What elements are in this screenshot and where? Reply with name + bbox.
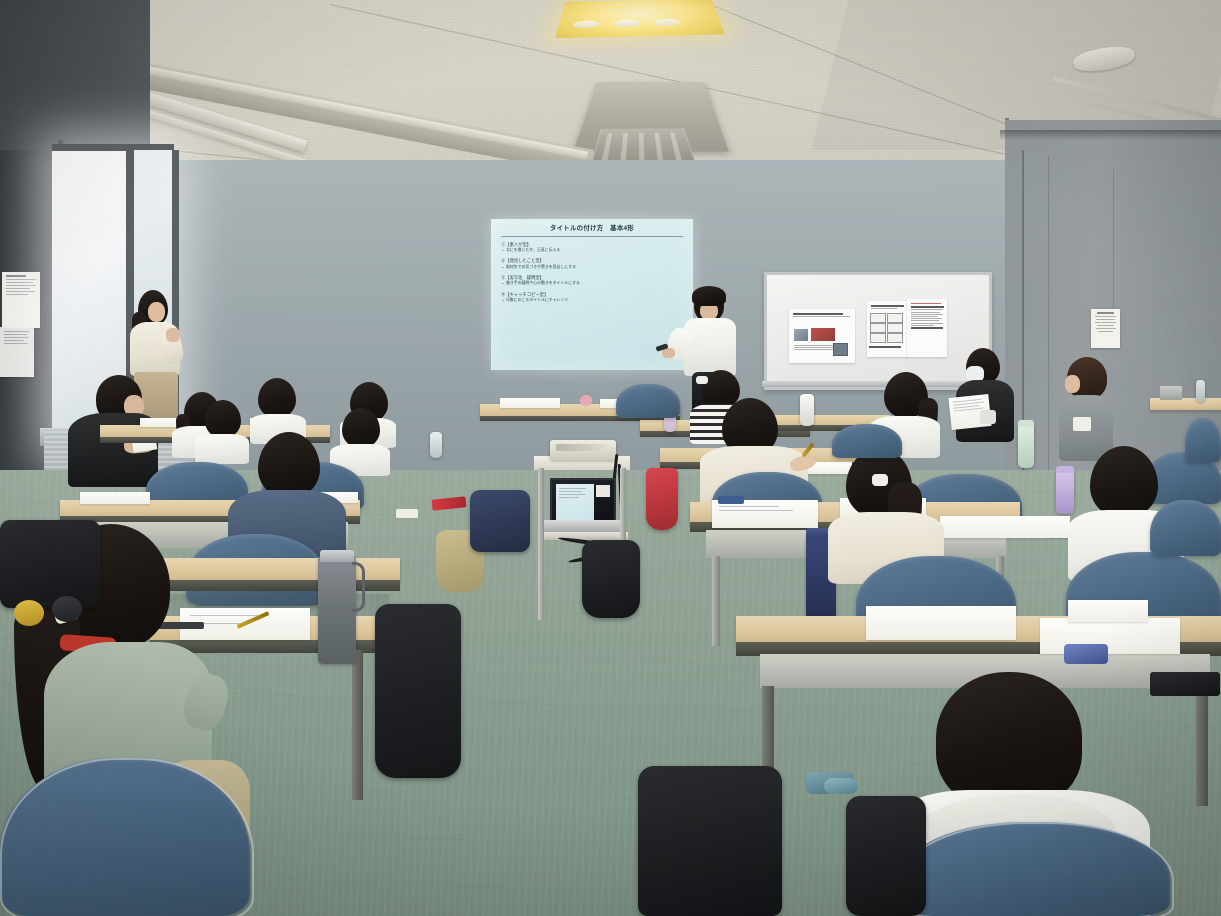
projector-top-panel [556, 444, 606, 451]
student-head [258, 432, 320, 498]
paper-stack [500, 398, 560, 408]
shoe-teal-2 [824, 778, 858, 794]
eraser [396, 509, 418, 518]
pencil-case-blue [718, 496, 744, 504]
thermos-mint [1018, 424, 1034, 468]
backpack-foreground-center [638, 766, 782, 916]
student-head [1090, 446, 1158, 518]
student-head [258, 378, 296, 418]
student-back-left-2 [250, 378, 308, 438]
backpack-center-left [375, 604, 461, 778]
slide-item-detail: → 取材先での気づきや驚きを見出しにする [501, 265, 683, 270]
slide-item-detail: → なにを書いたか、正直に伝える [501, 248, 683, 253]
thermos-handle [352, 562, 365, 612]
laptop-screen [550, 478, 616, 526]
backpack-navy-mid [470, 490, 530, 552]
staff-hands [166, 328, 180, 342]
hair-clip [696, 376, 708, 384]
whiteboard-sheet [789, 309, 855, 363]
fluorescent-troffer-center [552, 0, 729, 49]
red-bag-on-chair [646, 468, 678, 530]
bottle-white-center [800, 394, 814, 426]
bottle-cap [1018, 420, 1034, 427]
partition-seam [1113, 168, 1114, 328]
left-pillar-notice-lower [0, 327, 34, 377]
partition-top-shadow [1000, 130, 1221, 140]
desk-leg [712, 556, 720, 646]
gray-staff-face [1065, 375, 1080, 393]
chair-back-far [832, 424, 902, 458]
presenter-hair [692, 286, 726, 306]
slide-item-heading: ②【発見したこと型】 [501, 258, 683, 263]
backpack-center-aisle [582, 540, 640, 618]
paper-foreground-right [1068, 600, 1148, 622]
laptop-corner-panel [596, 485, 610, 497]
paper-foreground-right [866, 606, 1016, 640]
desk-leg [352, 650, 363, 800]
cart-leg [538, 468, 544, 620]
paper-on-desk [940, 516, 1070, 538]
paper-foreground-right [1040, 618, 1180, 654]
pink-object [580, 395, 592, 406]
hair-tie [872, 474, 888, 486]
paper-on-desk [712, 500, 818, 528]
presenter-hand [662, 348, 675, 358]
slide-item-detail: → 書き手の疑問や心の動きをタイトルにする [501, 281, 683, 286]
keychain-yellow [14, 600, 44, 626]
left-pillar-notice-upper [2, 272, 40, 328]
armband [980, 410, 996, 424]
slide-title: タイトルの付け方 基本4形 [501, 225, 683, 232]
backpack-foreground-right [846, 796, 926, 916]
whiteboard-sheet [867, 301, 908, 357]
chair-far-right [1150, 500, 1221, 556]
backpack-foreground-left [0, 520, 100, 608]
bottle-left-mid [430, 432, 442, 458]
slide-item-detail: → 印象にのこるタイトルにチャレンジ [501, 298, 683, 303]
paper-on-desk [80, 492, 150, 504]
chair-back-far [616, 384, 680, 418]
equipment-box [1160, 386, 1182, 400]
classroom-scene: タイトルの付け方 基本4形 ①【素人が型】 → なにを書いたか、正直に伝える ②… [0, 0, 1221, 916]
slide-rule [501, 236, 683, 237]
student-head [936, 672, 1082, 808]
pencil-case-blue-right [1064, 644, 1108, 664]
chair-back [1185, 418, 1221, 462]
desk-leg [1196, 686, 1208, 806]
right-partition-notice [1091, 309, 1120, 348]
staff-face [148, 302, 165, 322]
thermos-gray-foreground [318, 556, 356, 664]
keychain-dark [52, 596, 82, 622]
name-badge [1073, 417, 1091, 431]
partition-seam [1048, 156, 1049, 500]
bottle-far-right [1196, 380, 1205, 402]
presenter-shirt [684, 318, 736, 376]
whiteboard-sheet [907, 299, 947, 357]
thermos-cap [320, 550, 354, 562]
laptop-base [544, 520, 620, 532]
